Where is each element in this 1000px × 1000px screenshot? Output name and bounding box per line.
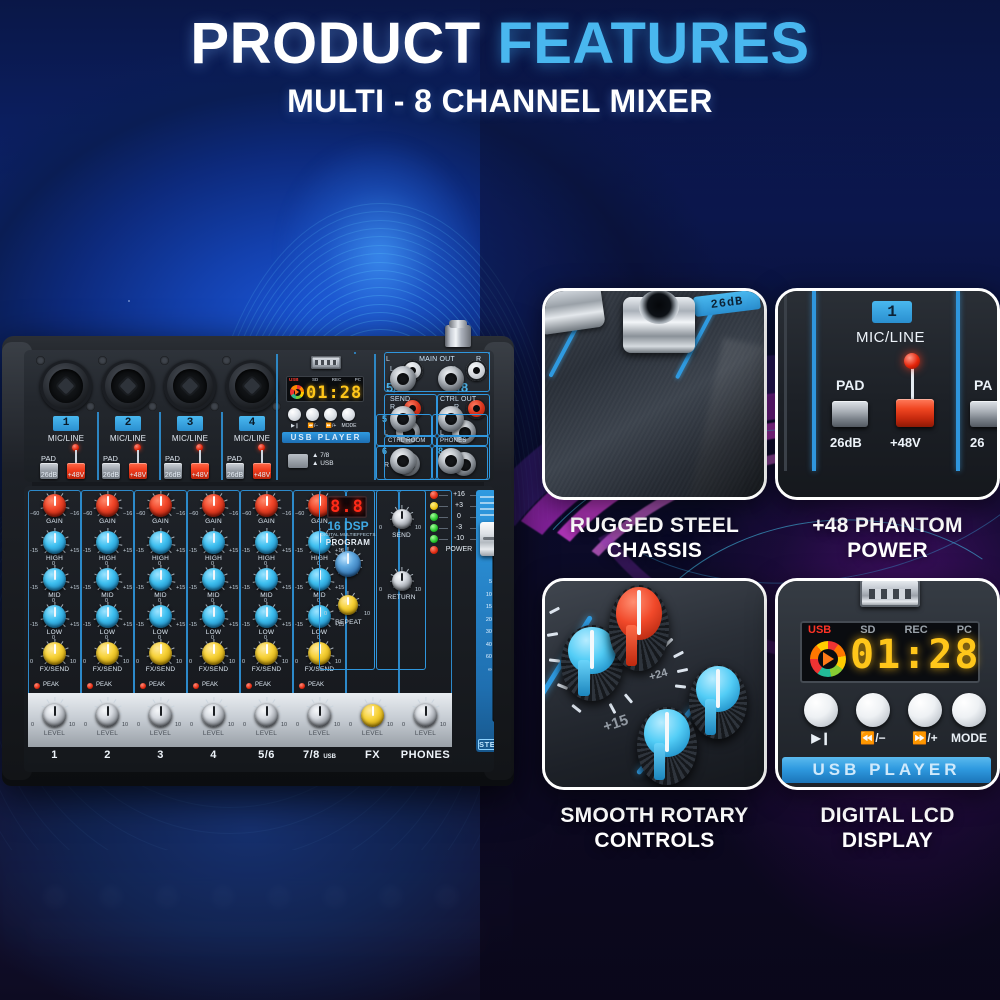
knob-mid-ch3[interactable]: [149, 568, 172, 591]
level-knob-4[interactable]: [202, 704, 225, 727]
player-button-1[interactable]: [306, 408, 319, 421]
knob-mid-ch2[interactable]: [96, 568, 119, 591]
page-title: PRODUCT FEATURES: [0, 14, 1000, 75]
repeat-max: 10: [364, 611, 370, 617]
xlr-clip: [98, 356, 107, 365]
peak-led: [246, 683, 252, 689]
knob-low-ch4[interactable]: [202, 605, 225, 628]
lcd-time-value: 01:28: [306, 383, 362, 402]
level-min: 0: [402, 722, 405, 728]
peak-label: PEAK: [308, 682, 324, 688]
channel-badge-2: 2: [115, 416, 141, 431]
pad-label-1: PAD: [41, 454, 56, 463]
channel-name: 3: [157, 749, 164, 761]
feature-card-image: +15 +24: [542, 578, 767, 790]
pad-button-right[interactable]: [970, 401, 1000, 427]
peak-row-1: PEAK: [28, 682, 81, 691]
phantom-value-2: +48V: [124, 472, 152, 479]
usb-player-strip: USB PLAYER: [282, 432, 370, 443]
channel-label-PHONES: PHONES: [399, 747, 452, 763]
send-knob[interactable]: [392, 509, 412, 529]
knob-min-MID: -15: [189, 585, 197, 591]
peak-row-3: PEAK: [134, 682, 187, 691]
knob-max-MID: +15: [282, 585, 291, 591]
knob-min-LOW: -15: [189, 622, 197, 628]
pad-value-right: 26: [970, 435, 984, 450]
knob-high-ch4[interactable]: [202, 531, 225, 554]
return-min: 0: [379, 587, 382, 593]
repeat-label: REPEAT: [322, 619, 375, 626]
top-jack-connector: [445, 325, 471, 347]
knob-max-GAIN: −16: [282, 511, 291, 517]
trs-zone-6: [376, 446, 432, 480]
peak-led: [140, 683, 146, 689]
knob-pointer: [107, 533, 109, 543]
knob-max-HIGH: +15: [282, 548, 291, 554]
knob-pointer: [347, 597, 349, 605]
channel-divider: [221, 412, 223, 480]
knob-min-HIGH: -15: [83, 548, 91, 554]
level-knob-7/8[interactable]: [308, 704, 331, 727]
channel-badge-3: 3: [177, 416, 203, 431]
fader-handle[interactable]: [480, 522, 494, 556]
knob-min-FX/SEND: 0: [242, 659, 245, 665]
knob-min-GAIN: −60: [295, 511, 304, 517]
knob-max-HIGH: +15: [176, 548, 185, 554]
knob-max-FX/SEND: 10: [123, 659, 129, 665]
knob-min-HIGH: -15: [295, 548, 303, 554]
knob-low-ch3[interactable]: [149, 605, 172, 628]
level-min: 0: [190, 722, 193, 728]
pad-button[interactable]: [832, 401, 868, 427]
xlr-clip: [86, 402, 95, 411]
knob-max-LOW: +15: [70, 622, 79, 628]
channel-name: 7/8: [303, 749, 320, 761]
knob-max-FX/SEND: 10: [282, 659, 288, 665]
knob-label-FX/SEND: FX/SEND: [187, 666, 240, 673]
player-button-3[interactable]: [342, 408, 355, 421]
knob-fx-send-ch1[interactable]: [43, 642, 66, 665]
feature-label: +48 PHANTOM POWER: [775, 513, 1000, 563]
knob-min-LOW: -15: [242, 622, 250, 628]
knob-label-GAIN: GAIN: [240, 518, 293, 525]
knob-label-GAIN: GAIN: [81, 518, 134, 525]
knob-min-MID: -15: [30, 585, 38, 591]
knob-min-LOW: -15: [83, 622, 91, 628]
peak-row-7/8: PEAK: [293, 682, 346, 691]
fader-hash-marks: [480, 496, 494, 518]
channel-name: 5/6: [258, 749, 275, 761]
phantom-value-4: +48V: [248, 472, 276, 479]
feature-label-line1: +48 PHANTOM: [775, 513, 1000, 538]
channel-label-2: 2: [81, 747, 134, 763]
level-min: 0: [243, 722, 246, 728]
channel-label-4: 4: [187, 747, 240, 763]
header: PRODUCT FEATURES MULTI - 8 CHANNEL MIXER: [0, 14, 1000, 120]
player-button-label-2: ⏩/+: [321, 423, 341, 429]
level-label: LEVEL: [187, 730, 240, 737]
knob-pointer: [266, 533, 268, 543]
knob-mid-ch4[interactable]: [202, 568, 225, 591]
feature-label-line1: DIGITAL LCD: [775, 803, 1000, 828]
knob-min-HIGH: -15: [30, 548, 38, 554]
peak-led: [34, 683, 40, 689]
channel-strip-1: −60−16GAIN-15+15HIGH0-15+15MID0-15+15LOW…: [28, 490, 81, 720]
knob-max-HIGH: +15: [70, 548, 79, 554]
knob-max-HIGH: +15: [123, 548, 132, 554]
phantom-value-3: +48V: [186, 472, 214, 479]
play-pause-button[interactable]: [804, 693, 838, 727]
peak-label: PEAK: [255, 682, 271, 688]
pad-value: 26dB: [830, 435, 862, 450]
knob-pointer: [107, 496, 109, 506]
knob-pointer: [266, 570, 268, 580]
peak-row-5/6: PEAK: [240, 682, 293, 691]
lcd-mode-usb: USB: [289, 377, 299, 382]
main-out-zone: [384, 352, 490, 392]
title-product: PRODUCT: [190, 11, 480, 76]
knob-max-LOW: +15: [282, 622, 291, 628]
knob-low-ch1[interactable]: [43, 605, 66, 628]
play-status-ring-icon: [290, 385, 304, 399]
knob-pointer: [401, 511, 403, 519]
channel-label-3: 3: [134, 747, 187, 763]
knob-low-ch5/6[interactable]: [255, 605, 278, 628]
repeat-min: 0: [324, 611, 327, 617]
audio-mixer: 1MIC/LINEPAD26dB+48V2MIC/LINEPAD26dB+48V…: [2, 336, 514, 796]
knob-pointer: [401, 573, 403, 581]
knob-max-FX/SEND: 10: [229, 659, 235, 665]
pad-value-1: 26dB: [35, 472, 63, 479]
knob-pointer: [319, 706, 321, 716]
xlr-clip: [160, 356, 169, 365]
knob-pointer: [54, 496, 56, 506]
level-section-7/8: 010LEVEL: [293, 693, 346, 747]
level-min: 0: [349, 722, 352, 728]
level-section-FX: 010LEVEL: [346, 693, 399, 747]
channel-badge-1: 1: [53, 416, 79, 431]
feature-smooth-rotary-controls[interactable]: +15 +24 SMOOTH ROTARY CONTROLS: [542, 578, 767, 853]
feature-rugged-steel-chassis[interactable]: 26dB RUGGED STEEL CHASSIS: [542, 288, 767, 563]
channel-divider: [159, 412, 161, 480]
level-label: LEVEL: [399, 730, 452, 737]
knob-min-HIGH: -15: [242, 548, 250, 554]
knob-max-LOW: +15: [123, 622, 132, 628]
level-max: 10: [175, 722, 181, 728]
knob-mid-ch1[interactable]: [43, 568, 66, 591]
lcd-screen: USBSDRECPC01:28: [286, 376, 364, 402]
feature-digital-lcd-display[interactable]: USB SD REC PC 01:28 ▶❙ ⏪/− ⏩/+ MODE USB …: [775, 578, 1000, 853]
dsp-section: 8.816 DSPDIGITAL MULTIEFFECTSPROGRAM010R…: [319, 490, 375, 670]
knob-min-FX/SEND: 0: [83, 659, 86, 665]
channel-divider: [97, 412, 99, 480]
pad-label: PAD: [836, 377, 865, 393]
chassis-steel-jack: [623, 297, 695, 353]
title-features: FEATURES: [497, 11, 809, 76]
knob-high-ch2[interactable]: [96, 531, 119, 554]
peak-row-2: PEAK: [81, 682, 134, 691]
knob-min-LOW: -15: [30, 622, 38, 628]
knob-min-GAIN: −60: [242, 511, 251, 517]
lcd-mode-usb: USB: [808, 624, 831, 636]
knob-gain-ch5/6[interactable]: [255, 494, 278, 517]
knob-pointer: [213, 706, 215, 716]
player-button-2[interactable]: [324, 408, 337, 421]
feature-label-line2: CONTROLS: [542, 828, 767, 853]
next-button[interactable]: [908, 693, 942, 727]
feature-label: DIGITAL LCD DISPLAY: [775, 803, 1000, 853]
phantom-power-led: [904, 353, 920, 369]
knob-label-FX/SEND: FX/SEND: [240, 666, 293, 673]
knob-pointer: [266, 607, 268, 617]
peak-label: PEAK: [202, 682, 218, 688]
knob-pointer: [213, 644, 215, 654]
feature-card-image: 26dB: [542, 288, 767, 500]
fader-scale-mark: 15: [479, 601, 492, 614]
xlr-combo-jack-1[interactable]: [40, 360, 92, 412]
feature-phantom-power[interactable]: 1 MIC/LINE PAD PA 26dB +48V 26 +48 PHANT…: [775, 288, 1000, 563]
previous-label: ⏪/−: [847, 731, 899, 745]
knob-pointer: [213, 533, 215, 543]
level-max: 10: [334, 722, 340, 728]
rotary-knob-cyan-right[interactable]: [689, 665, 747, 739]
pad-label-right: PA: [974, 377, 992, 393]
pad-value-4: 26dB: [221, 472, 249, 479]
knob-max-MID: +15: [176, 585, 185, 591]
rotary-knob-red[interactable]: [609, 585, 669, 671]
knob-pointer: [213, 570, 215, 580]
knob-gain-ch1[interactable]: [43, 494, 66, 517]
knob-pointer: [54, 706, 56, 716]
knob-high-ch3[interactable]: [149, 531, 172, 554]
infographic-stage: PRODUCT FEATURES MULTI - 8 CHANNEL MIXER…: [0, 0, 1000, 1000]
trs-zone-8: [432, 446, 488, 480]
knob-min-MID: -15: [295, 585, 303, 591]
lcd-time-value: 01:28: [850, 633, 976, 677]
phantom-power-button[interactable]: [896, 399, 934, 427]
mic-line-label-3: MIC/LINE: [164, 434, 216, 443]
knob-min-FX/SEND: 0: [189, 659, 192, 665]
knob-pointer: [266, 644, 268, 654]
dsp-display-value: 8.8: [327, 496, 367, 518]
lcd-screen: USB SD REC PC 01:28: [800, 621, 980, 683]
level-section-4: 010LEVEL: [187, 693, 240, 747]
xlr-combo-jack-3[interactable]: [164, 360, 216, 412]
mic-line-label: MIC/LINE: [778, 329, 1000, 346]
knob-fx-send-ch5/6[interactable]: [255, 642, 278, 665]
led-stem: [137, 450, 139, 463]
channel-label-7/8: 7/8 USB: [293, 747, 346, 763]
level-label: LEVEL: [81, 730, 134, 737]
level-section-1: 010LEVEL: [28, 693, 81, 747]
knob-label-GAIN: GAIN: [134, 518, 187, 525]
knob-max-HIGH: +15: [229, 548, 238, 554]
knob-label-FX/SEND: FX/SEND: [81, 666, 134, 673]
mic-line-label-1: MIC/LINE: [40, 434, 92, 443]
switch-labels: ▲ 7/8▲ USB: [312, 452, 334, 467]
player-button-0[interactable]: [288, 408, 301, 421]
rotary-knob-cyan-bottom[interactable]: [637, 707, 697, 785]
channel-name: PHONES: [401, 749, 450, 761]
level-knob-FX[interactable]: [361, 704, 384, 727]
knob-pointer: [54, 644, 56, 654]
knob-max-GAIN: −16: [123, 511, 132, 517]
level-min: 0: [296, 722, 299, 728]
switch-label-78: ▲ 7/8: [312, 452, 334, 460]
channel-label-5/6: 5/6: [240, 747, 293, 763]
level-section-PHONES: 010LEVEL: [399, 693, 452, 747]
knob-pointer: [213, 607, 215, 617]
channel-1-badge: 1: [872, 301, 912, 323]
trs-zone-5: [376, 414, 432, 446]
mic-line-label-2: MIC/LINE: [102, 434, 154, 443]
channel-name: 4: [210, 749, 217, 761]
knob-min-HIGH: -15: [189, 548, 197, 554]
knob-gain-ch2[interactable]: [96, 494, 119, 517]
player-button-label-1: ⏪/−: [303, 423, 323, 429]
knob-max-FX/SEND: 10: [176, 659, 182, 665]
feature-label-line1: RUGGED STEEL: [542, 513, 767, 538]
knob-max-GAIN: −16: [176, 511, 185, 517]
mixer-reflection: [2, 800, 514, 970]
level-knob-1[interactable]: [43, 704, 66, 727]
channel-strip-3: −60−16GAIN-15+15HIGH0-15+15MID0-15+15LOW…: [134, 490, 187, 720]
sparkle: [128, 300, 130, 302]
xlr-combo-jack-4[interactable]: [226, 360, 278, 412]
knob-pointer: [372, 706, 374, 716]
channel-name: FX: [365, 749, 380, 761]
knob-pointer: [107, 706, 109, 716]
knob-pointer: [213, 496, 215, 506]
level-max: 10: [281, 722, 287, 728]
knob-min-LOW: -15: [136, 622, 144, 628]
level-label: LEVEL: [240, 730, 293, 737]
knob-min-HIGH: -15: [136, 548, 144, 554]
peak-led: [299, 683, 305, 689]
send-return-section: 010SEND010RETURN: [376, 490, 426, 670]
level-knob-2[interactable]: [96, 704, 119, 727]
knob-pointer: [160, 607, 162, 617]
level-section-5/6: 010LEVEL: [240, 693, 293, 747]
lcd-mode-sd: SD: [312, 377, 318, 382]
dsp-subtitle: DIGITAL MULTIEFFECTS: [320, 532, 376, 537]
knob-fx-send-ch2[interactable]: [96, 642, 119, 665]
knob-max-LOW: +15: [176, 622, 185, 628]
send-label: SEND: [375, 532, 428, 539]
fader-scale-mark: 10: [479, 589, 492, 602]
peak-row-4: PEAK: [187, 682, 240, 691]
level-max: 10: [387, 722, 393, 728]
level-label: LEVEL: [28, 730, 81, 737]
knob-high-ch5/6[interactable]: [255, 531, 278, 554]
knob-min-LOW: -15: [295, 622, 303, 628]
feature-label-line2: DISPLAY: [775, 828, 1000, 853]
knob-max-FX/SEND: 10: [70, 659, 76, 665]
level-section-3: 010LEVEL: [134, 693, 187, 747]
mode-label: MODE: [943, 731, 995, 745]
dsp-repeat-knob[interactable]: [338, 595, 358, 615]
knob-label-GAIN: GAIN: [28, 518, 81, 525]
play-status-ring-icon: [810, 641, 846, 677]
led-stem: [199, 450, 201, 463]
knob-low-ch2[interactable]: [96, 605, 119, 628]
return-knob[interactable]: [392, 571, 412, 591]
level-knob-5/6[interactable]: [255, 704, 278, 727]
xlr-combo-jack-2[interactable]: [102, 360, 154, 412]
channel-name: 2: [104, 749, 111, 761]
knob-gain-ch4[interactable]: [202, 494, 225, 517]
knob-mid-ch5/6[interactable]: [255, 568, 278, 591]
knob-label-GAIN: GAIN: [187, 518, 240, 525]
knob-pointer: [107, 570, 109, 580]
knob-min-GAIN: −60: [30, 511, 39, 517]
knob-pointer: [160, 706, 162, 716]
level-knob-3[interactable]: [149, 704, 172, 727]
level-min: 0: [31, 722, 34, 728]
spacer: [354, 352, 356, 354]
knob-pointer: [107, 644, 109, 654]
level-knob-PHONES[interactable]: [414, 704, 437, 727]
level-label: LEVEL: [346, 730, 399, 737]
feature-label-line2: CHASSIS: [542, 538, 767, 563]
fader-scale-mark: 5: [479, 576, 492, 589]
knob-pointer: [160, 496, 162, 506]
channel-strip-5/6: −60−16GAIN-15+15HIGH0-15+15MID0-15+15LOW…: [240, 490, 293, 720]
mode-button[interactable]: [952, 693, 986, 727]
feature-label: RUGGED STEEL CHASSIS: [542, 513, 767, 563]
xlr-clip: [148, 402, 157, 411]
player-button-label-0: ▶❙: [285, 423, 305, 429]
knob-max-GAIN: −16: [229, 511, 238, 517]
fader-scale-mark: 60: [479, 651, 492, 664]
level-label: LEVEL: [293, 730, 346, 737]
feature-card-image: USB SD REC PC 01:28 ▶❙ ⏪/− ⏩/+ MODE USB …: [775, 578, 1000, 790]
knob-fx-send-ch3[interactable]: [149, 642, 172, 665]
usb-source-switch[interactable]: [288, 454, 308, 468]
level-max: 10: [228, 722, 234, 728]
usb-port-icon: [311, 356, 341, 369]
fader-scale-mark: ∞: [479, 664, 492, 677]
dsp-program-knob[interactable]: [335, 551, 361, 577]
fader-scale-mark: 20: [479, 614, 492, 627]
knob-fx-send-ch4[interactable]: [202, 642, 225, 665]
knob-label-FX/SEND: FX/SEND: [134, 666, 187, 673]
mixer-control-panel: −60−16GAIN-15+15HIGH0-15+15MID0-15+15LOW…: [24, 486, 494, 772]
knob-pointer: [54, 570, 56, 580]
knob-high-ch1[interactable]: [43, 531, 66, 554]
dsp-title: 16 DSP: [320, 519, 376, 533]
knob-pointer: [266, 706, 268, 716]
fader-scale-mark: 40: [479, 639, 492, 652]
knob-gain-ch3[interactable]: [149, 494, 172, 517]
knob-min-FX/SEND: 0: [136, 659, 139, 665]
peak-label: PEAK: [43, 682, 59, 688]
pad-label-2: PAD: [103, 454, 118, 463]
peak-led: [193, 683, 199, 689]
channel-strip-2: −60−16GAIN-15+15HIGH0-15+15MID0-15+15LOW…: [81, 490, 134, 720]
feature-label-line2: POWER: [775, 538, 1000, 563]
knob-min-GAIN: −60: [189, 511, 198, 517]
fader-scale: 5101520304060∞: [479, 576, 492, 676]
knob-min-MID: -15: [242, 585, 250, 591]
knob-min-GAIN: −60: [136, 511, 145, 517]
knob-pointer: [160, 533, 162, 543]
knob-max-MID: +15: [70, 585, 79, 591]
usb-port-icon: [860, 579, 920, 607]
level-min: 0: [84, 722, 87, 728]
previous-button[interactable]: [856, 693, 890, 727]
pad-label-3: PAD: [165, 454, 180, 463]
